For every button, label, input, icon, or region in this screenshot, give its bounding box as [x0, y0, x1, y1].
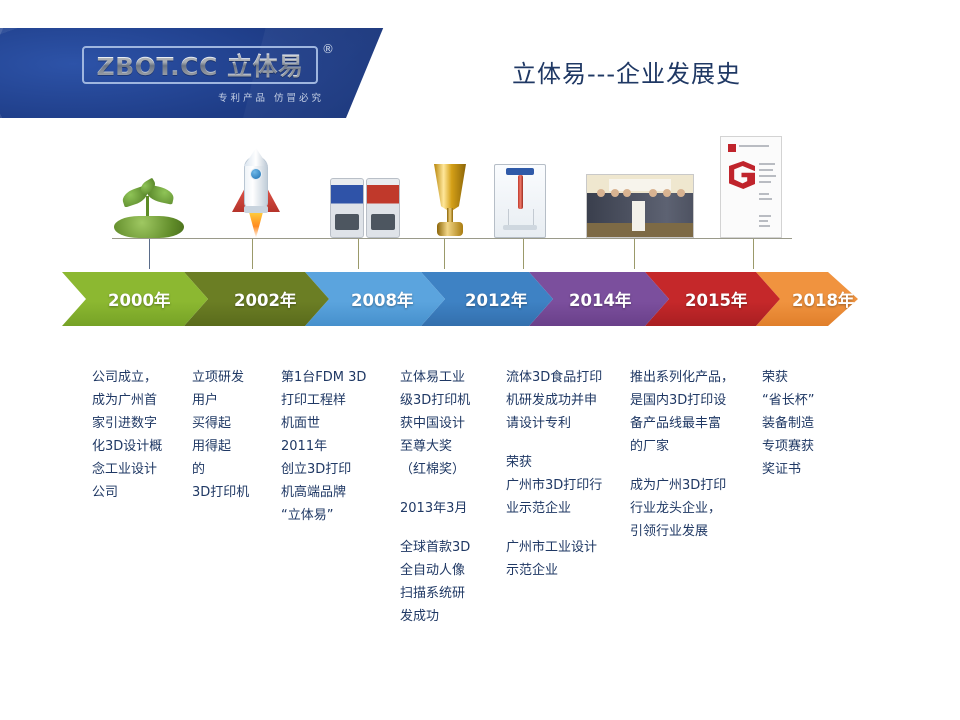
timeline-year-label: 2014年: [569, 287, 631, 311]
col-2015: 推出系列化产品， 是国内3D打印设 备产品线最丰富 的厂家成为广州3D打印 行业…: [630, 366, 760, 543]
timeline-tick: [523, 239, 524, 269]
description-block: 荣获 “省长杯” 装备制造 专项赛获 奖证书: [762, 366, 862, 481]
col-2000: 公司成立， 成为广州首 家引进数字 化3D设计概 念工业设计 公司: [92, 366, 188, 504]
timeline-segment-2000[interactable]: 2000年: [62, 272, 208, 326]
timeline-year-label: 2012年: [465, 287, 527, 311]
col-2008: 第1台FDM 3D 打印工程样 机面世 2011年 创立3D打印 机高端品牌 “…: [281, 366, 396, 527]
logo-tagline: 专利产品 仿冒必究: [218, 90, 324, 104]
timeline-tick: [252, 239, 253, 269]
description-block: 公司成立， 成为广州首 家引进数字 化3D设计概 念工业设计 公司: [92, 366, 188, 504]
description-columns: 公司成立， 成为广州首 家引进数字 化3D设计概 念工业设计 公司立项研发 用户…: [0, 366, 960, 646]
description-block: 成为广州3D打印 行业龙头企业， 引领行业发展: [630, 474, 760, 543]
col-2002: 立项研发 用户 买得起 用得起 的 3D打印机: [192, 366, 278, 504]
3d-printer-photo: [494, 164, 546, 238]
description-block: 流体3D食品打印 机研发成功并申 请设计专利: [506, 366, 628, 435]
trophy-icon: [430, 164, 470, 238]
timeline-tick: [634, 239, 635, 269]
slide-canvas: ZBOT.CC 立体易 ® 专利产品 仿冒必究 立体易---企业发展史: [0, 0, 960, 720]
timeline-year-label: 2015年: [685, 287, 747, 311]
timeline-tick: [753, 239, 754, 269]
rocket-icon: [225, 152, 287, 238]
col-2012: 立体易工业 级3D打印机 获中国设计 至尊大奖 （红棉奖）2013年3月全球首款…: [400, 366, 504, 628]
sprout-icon: [110, 176, 188, 238]
description-block: 广州市工业设计 示范企业: [506, 536, 628, 582]
description-block: 全球首款3D 全自动人像 扫描系统研 发成功: [400, 536, 504, 628]
group-photo: [586, 174, 694, 238]
timeline-year-label: 2002年: [234, 287, 296, 311]
fdm-printer-photo: [330, 176, 404, 238]
thumbnail-strip: [0, 128, 960, 238]
timeline-year-label: 2000年: [108, 287, 170, 311]
timeline-tick: [444, 239, 445, 269]
logo-plate: ZBOT.CC 立体易: [82, 46, 318, 84]
company-logo: ZBOT.CC 立体易 ® 专利产品 仿冒必究: [0, 28, 406, 118]
timeline-year-label: 2008年: [351, 287, 413, 311]
description-block: 第1台FDM 3D 打印工程样 机面世 2011年 创立3D打印 机高端品牌 “…: [281, 366, 396, 527]
timeline-band: 2000年2002年2008年2012年2014年2015年2018年: [62, 272, 858, 326]
logo-wordmark: ZBOT.CC 立体易: [96, 47, 303, 83]
registered-trademark-icon: ®: [322, 42, 334, 56]
timeline-tick: [149, 239, 150, 269]
description-block: 立体易工业 级3D打印机 获中国设计 至尊大奖 （红棉奖）: [400, 366, 504, 481]
timeline-axis: [112, 238, 792, 239]
col-2018: 荣获 “省长杯” 装备制造 专项赛获 奖证书: [762, 366, 862, 481]
description-block: 荣获 广州市3D打印行 业示范企业: [506, 451, 628, 520]
timeline-tick: [358, 239, 359, 269]
description-block: 推出系列化产品， 是国内3D打印设 备产品线最丰富 的厂家: [630, 366, 760, 458]
timeline-year-label: 2018年: [792, 287, 854, 311]
page-title: 立体易---企业发展史: [512, 54, 741, 89]
certificate-photo: [720, 136, 782, 238]
description-block: 立项研发 用户 买得起 用得起 的 3D打印机: [192, 366, 278, 504]
col-2014: 流体3D食品打印 机研发成功并申 请设计专利荣获 广州市3D打印行 业示范企业广…: [506, 366, 628, 582]
description-block: 2013年3月: [400, 497, 504, 520]
